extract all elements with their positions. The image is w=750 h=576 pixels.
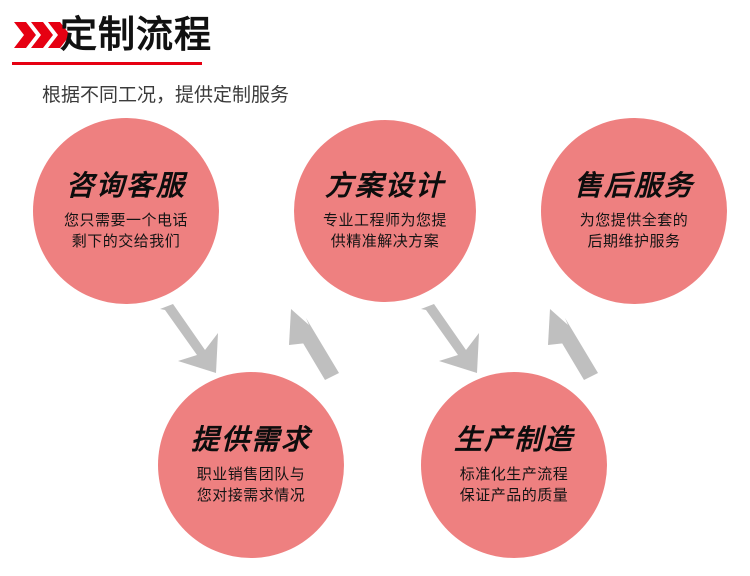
arrow-up-right-icon [546,305,616,383]
page-header: 定制流程 根据不同工况，提供定制服务 [0,0,750,72]
flow-step-description: 职业销售团队与 您对接需求情况 [197,464,306,506]
flow-step-description: 为您提供全套的 后期维护服务 [580,210,689,252]
page-title: 定制流程 [60,12,212,58]
flow-step-desc-line2: 供精准解决方案 [323,231,447,252]
flow-step-desc-line2: 您对接需求情况 [197,485,306,506]
flow-step-manufacture[interactable]: 生产制造 标准化生产流程 保证产品的质量 [421,372,607,558]
arrow-up-right-icon [287,305,357,383]
arrow-down-right-icon [156,303,226,377]
flow-step-desc-line2: 剩下的交给我们 [64,231,188,252]
arrow-down-right-icon [417,303,487,377]
flow-step-title: 提供需求 [191,424,311,456]
flow-step-desc-line1: 为您提供全套的 [580,210,689,231]
flow-step-title: 咨询客服 [66,170,186,202]
flow-step-requirements[interactable]: 提供需求 职业销售团队与 您对接需求情况 [158,372,344,558]
flow-step-desc-line1: 您只需要一个电话 [64,210,188,231]
flow-step-description: 您只需要一个电话 剩下的交给我们 [64,210,188,252]
flow-step-desc-line1: 专业工程师为您提 [323,210,447,231]
slide-canvas: 定制流程 根据不同工况，提供定制服务 咨询客服 您只需要一个电话 剩下的交给我们… [0,0,750,576]
flow-step-description: 专业工程师为您提 供精准解决方案 [323,210,447,252]
flow-step-after-sales[interactable]: 售后服务 为您提供全套的 后期维护服务 [541,118,727,304]
page-subtitle: 根据不同工况，提供定制服务 [42,82,289,108]
flow-step-description: 标准化生产流程 保证产品的质量 [460,464,569,506]
flow-step-consult[interactable]: 咨询客服 您只需要一个电话 剩下的交给我们 [33,118,219,304]
flow-step-design[interactable]: 方案设计 专业工程师为您提 供精准解决方案 [294,120,476,302]
flow-step-desc-line1: 标准化生产流程 [460,464,569,485]
flow-step-title: 生产制造 [454,424,574,456]
flow-step-desc-line2: 保证产品的质量 [460,485,569,506]
flow-step-title: 售后服务 [574,170,694,202]
flow-step-title: 方案设计 [325,170,445,202]
title-underline-rule [12,62,202,65]
flow-step-desc-line1: 职业销售团队与 [197,464,306,485]
flow-step-desc-line2: 后期维护服务 [580,231,689,252]
